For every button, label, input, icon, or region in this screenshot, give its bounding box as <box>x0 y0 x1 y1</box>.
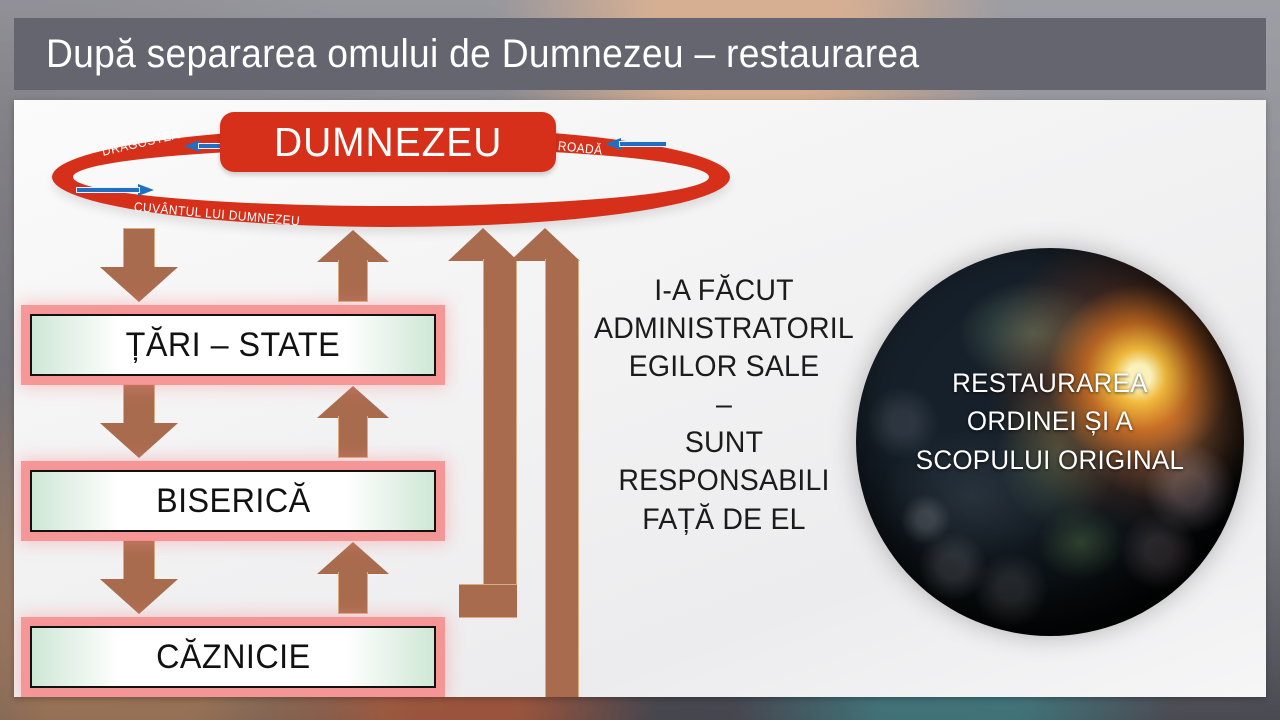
arrowhead <box>138 184 154 196</box>
arrow-stem <box>123 540 155 580</box>
middle-text-line: ADMINISTRATORIL <box>582 310 867 348</box>
flow-box-tari-state[interactable]: ȚĂRI – STATE <box>30 314 436 376</box>
title-band: După separarea omului de Dumnezeu – rest… <box>14 18 1266 90</box>
arrow-stem <box>338 260 368 302</box>
arrowhead <box>317 542 389 574</box>
arrowhead <box>317 386 389 418</box>
arrow-stem <box>123 384 155 424</box>
flow-box-label: BISERICĂ <box>156 482 311 521</box>
middle-text-line: FAȚĂ DE EL <box>582 501 867 539</box>
flow-box-label: CĂZNICIE <box>156 638 311 677</box>
globe-text-block: RESTAURAREA ORDINEI ȘI A SCOPULUI ORIGIN… <box>856 364 1244 479</box>
globe-text-line: ORDINEI ȘI A <box>864 402 1236 440</box>
flow-box-label: ȚĂRI – STATE <box>126 326 340 365</box>
arrow-shaft <box>619 141 667 147</box>
middle-text-line: RESPONSABILI <box>582 462 867 500</box>
arrowhead <box>100 267 178 302</box>
arrowhead <box>100 579 178 614</box>
page-title: După separarea omului de Dumnezeu – rest… <box>46 34 919 74</box>
node-dumnezeu-label: DUMNEZEU <box>274 119 502 166</box>
node-dumnezeu[interactable]: DUMNEZEU <box>220 112 556 172</box>
blue-arrow-right-icon <box>605 138 667 149</box>
middle-text-block: I-A FĂCUT ADMINISTRATORIL EGILOR SALE – … <box>574 272 874 539</box>
globe-text-line: RESTAURAREA <box>864 364 1236 402</box>
globe-graphic: RESTAURAREA ORDINEI ȘI A SCOPULUI ORIGIN… <box>856 248 1244 636</box>
arrow-stem <box>123 228 155 268</box>
down-arrow-2-icon <box>100 384 178 458</box>
blue-arrow-bottom-icon <box>76 184 154 195</box>
slide-root: După separarea omului de Dumnezeu – rest… <box>0 0 1280 720</box>
down-arrow-3-icon <box>100 540 178 614</box>
globe-text-line: SCOPULUI ORIGINAL <box>864 441 1236 479</box>
middle-text-line: SUNT <box>582 424 867 462</box>
arrowhead <box>510 228 580 261</box>
arrowhead <box>317 230 389 262</box>
up-arrow-3-icon <box>317 542 389 614</box>
up-arrow-1-icon <box>317 230 389 302</box>
arrow-stem <box>338 416 368 458</box>
arrow-shaft <box>76 187 140 193</box>
middle-text-line: – <box>582 386 867 424</box>
arrow-stem <box>338 572 368 614</box>
middle-text-line: EGILOR SALE <box>582 348 867 386</box>
flow-box-biserica[interactable]: BISERICĂ <box>30 470 436 532</box>
content-panel: DRAGOSTEA ROADĂ CUVÂNTUL LUI DUMNEZEU DU… <box>14 100 1266 697</box>
down-arrow-1-icon <box>100 228 178 302</box>
middle-text-line: I-A FĂCUT <box>582 272 867 310</box>
flow-box-caznicie[interactable]: CĂZNICIE <box>30 626 436 688</box>
arrowhead <box>100 423 178 458</box>
up-arrow-2-icon <box>317 386 389 458</box>
